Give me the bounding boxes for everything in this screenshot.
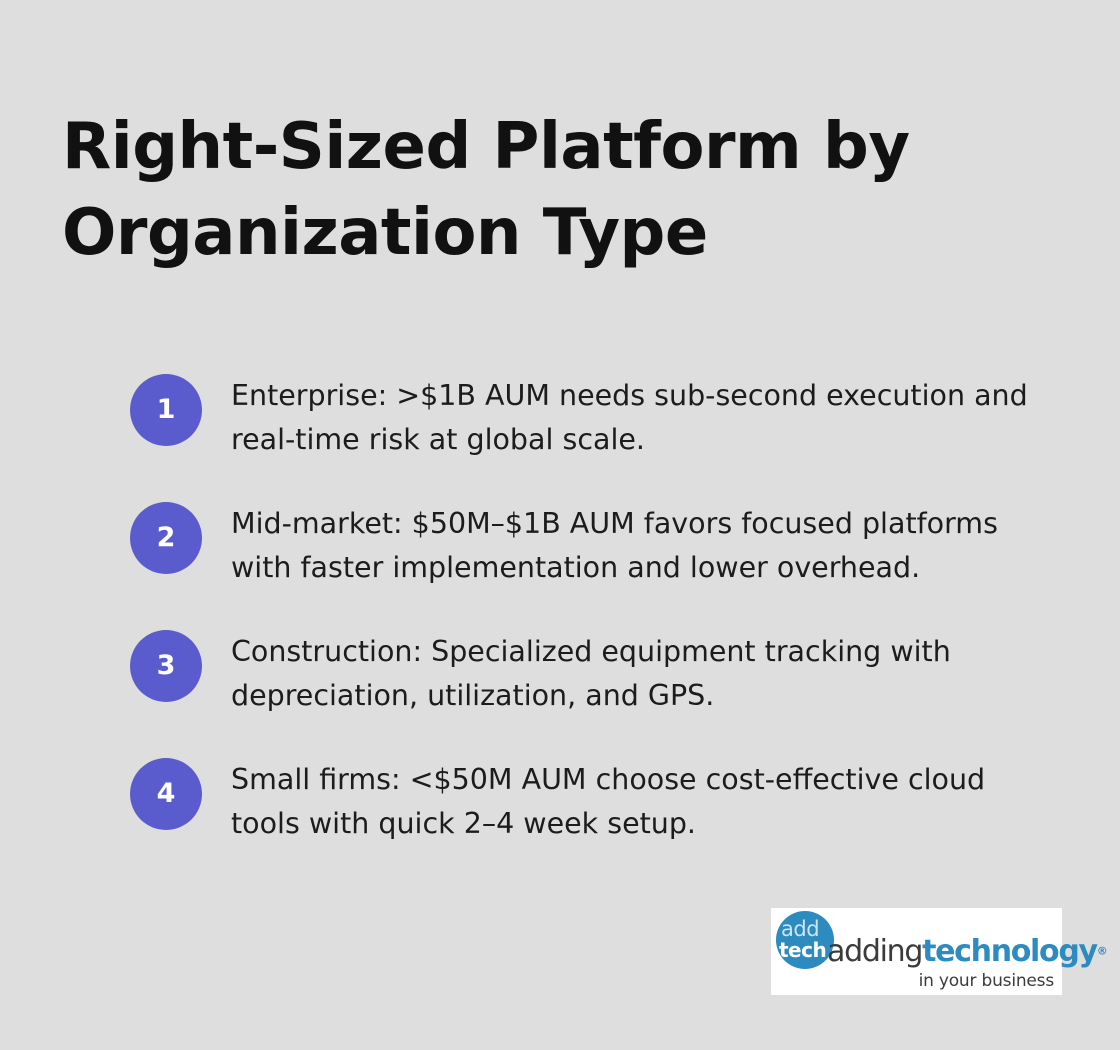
- list-item-text: Mid-market: $50M–$1B AUM favors focused …: [231, 502, 1060, 590]
- list-number-badge: 3: [130, 630, 202, 702]
- brand-logo: add tech addingtechnology® in your busin…: [771, 908, 1062, 995]
- list-item-text: Construction: Specialized equipment trac…: [231, 630, 1060, 718]
- logo-tagline: in your business: [919, 971, 1054, 991]
- list-number: 3: [157, 652, 176, 679]
- logo-wordmark-adding: adding: [827, 934, 922, 969]
- logo-wordmark: addingtechnology®: [827, 937, 1108, 967]
- list-number: 4: [157, 780, 176, 807]
- page-title: Right-Sized Platform by Organization Typ…: [62, 104, 962, 276]
- list-number-badge: 4: [130, 758, 202, 830]
- logo-badge-add-text: add: [781, 919, 819, 940]
- addtech-circle-icon: add tech: [776, 911, 834, 969]
- logo-badge-tech-text: tech: [779, 940, 826, 960]
- list-item: 1 Enterprise: >$1B AUM needs sub-second …: [130, 374, 1060, 464]
- numbered-list: 1 Enterprise: >$1B AUM needs sub-second …: [130, 374, 1060, 848]
- logo-inner: add tech addingtechnology® in your busin…: [771, 908, 1062, 995]
- registered-trademark-icon: ®: [1097, 945, 1108, 958]
- list-item-text: Enterprise: >$1B AUM needs sub-second ex…: [231, 374, 1060, 462]
- list-number-badge: 2: [130, 502, 202, 574]
- list-item-text: Small firms: <$50M AUM choose cost-effec…: [231, 758, 1060, 846]
- list-item: 3 Construction: Specialized equipment tr…: [130, 630, 1060, 720]
- list-item: 2 Mid-market: $50M–$1B AUM favors focuse…: [130, 502, 1060, 592]
- logo-wordmark-technology: technology: [922, 934, 1097, 969]
- list-item: 4 Small firms: <$50M AUM choose cost-eff…: [130, 758, 1060, 848]
- list-number-badge: 1: [130, 374, 202, 446]
- list-number: 1: [157, 396, 176, 423]
- list-number: 2: [157, 524, 176, 551]
- slide-canvas: Right-Sized Platform by Organization Typ…: [0, 0, 1120, 1050]
